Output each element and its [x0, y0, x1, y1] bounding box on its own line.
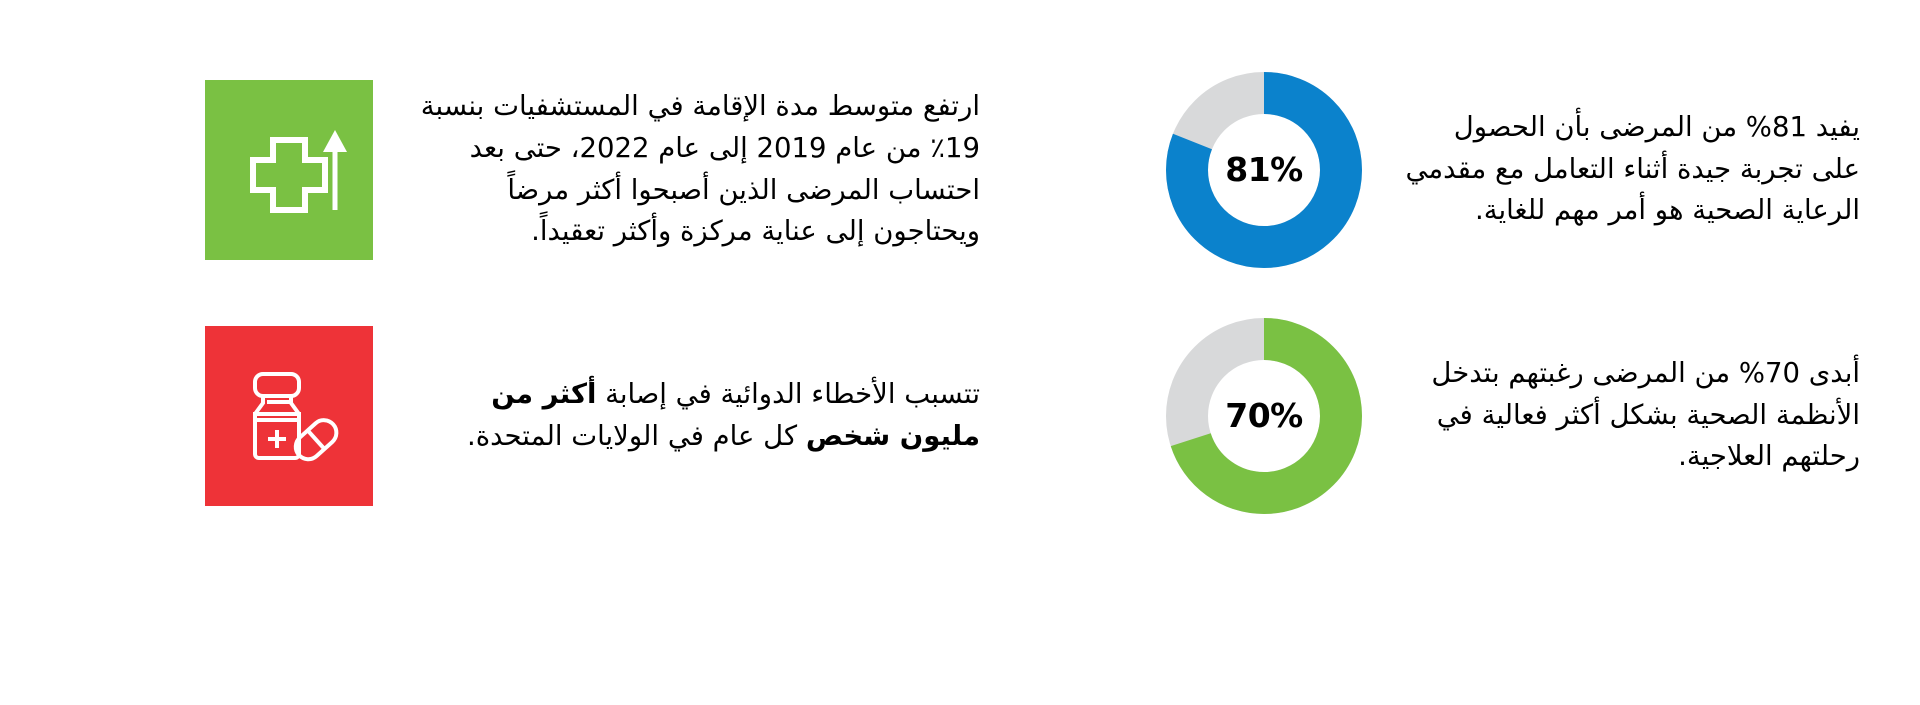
- infographic-root: ارتفع متوسط مدة الإقامة في المستشفيات بن…: [0, 0, 1920, 705]
- stat-block-medication-errors: تتسبب الأخطاء الدوائية في إصابة أكثر من …: [60, 318, 980, 513]
- stat-block-patient-experience: يفيد 81% من المرضى بأن الحصول على تجربة …: [1060, 72, 1860, 267]
- donut-chart-70: 70%: [1164, 316, 1364, 516]
- stat-text-medication-errors: تتسبب الأخطاء الدوائية في إصابة أكثر من …: [405, 374, 980, 458]
- stat-text-patient-experience: يفيد 81% من المرضى بأن الحصول على تجربة …: [1400, 107, 1860, 232]
- stat-block-health-systems: أبدى 70% من المرضى رغبتهم بتدخل الأنظمة …: [1060, 318, 1860, 513]
- donut-label-81: 81%: [1164, 70, 1364, 270]
- donut-chart-81: 81%: [1164, 70, 1364, 270]
- donut-label-70: 70%: [1164, 316, 1364, 516]
- icon-tile-green: [205, 80, 373, 260]
- pill-bottle-capsule-icon: [229, 356, 349, 476]
- stat-text-health-systems: أبدى 70% من المرضى رغبتهم بتدخل الأنظمة …: [1400, 353, 1860, 478]
- stat-block-hospital-stay: ارتفع متوسط مدة الإقامة في المستشفيات بن…: [60, 72, 980, 267]
- hospital-cross-up-arrow-icon: [229, 110, 349, 230]
- stat-text-hospital-stay: ارتفع متوسط مدة الإقامة في المستشفيات بن…: [405, 86, 980, 253]
- icon-tile-red: [205, 326, 373, 506]
